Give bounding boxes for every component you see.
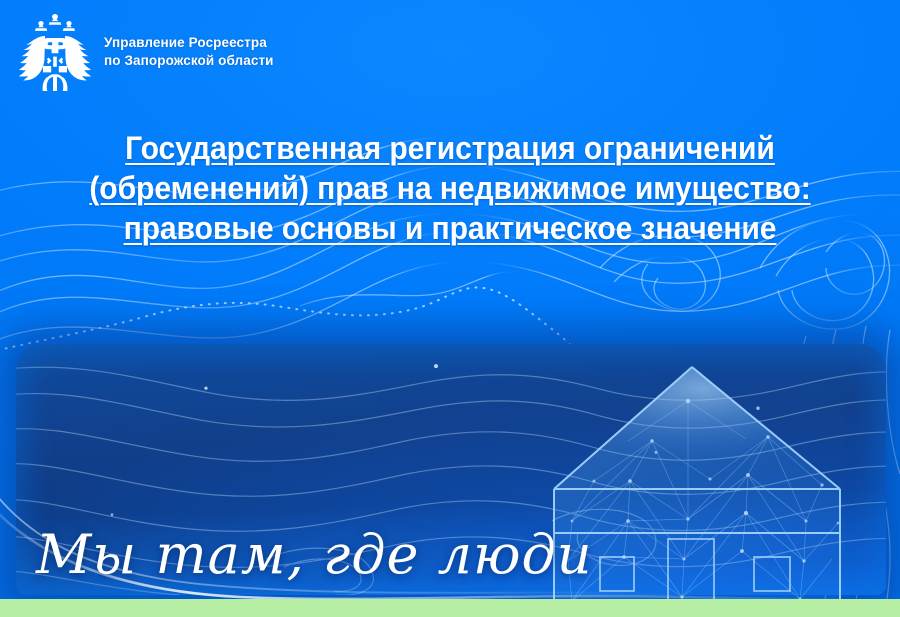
footer-green-strip — [0, 599, 900, 617]
title-line-1: Государственная регистрация ограничений — [51, 128, 848, 168]
brand-line-1: Управление Росреестра — [104, 34, 274, 52]
title-line-2: (обременений) прав на недвижимое имущест… — [51, 168, 848, 208]
presentation-title-slide: Управление Росреестра по Запорожской обл… — [0, 0, 900, 617]
brand-line-2: по Запорожской области — [104, 52, 274, 70]
title-line-3: правовые основы и практическое значение — [51, 208, 848, 248]
page-title: Государственная регистрация ограничений … — [0, 128, 900, 248]
rosreestr-double-headed-eagle-emblem — [12, 8, 98, 96]
brand-header: Управление Росреестра по Запорожской обл… — [12, 8, 274, 96]
slogan-text: Мы там, где люди — [36, 528, 593, 582]
brand-title: Управление Росреестра по Запорожской обл… — [104, 34, 274, 70]
